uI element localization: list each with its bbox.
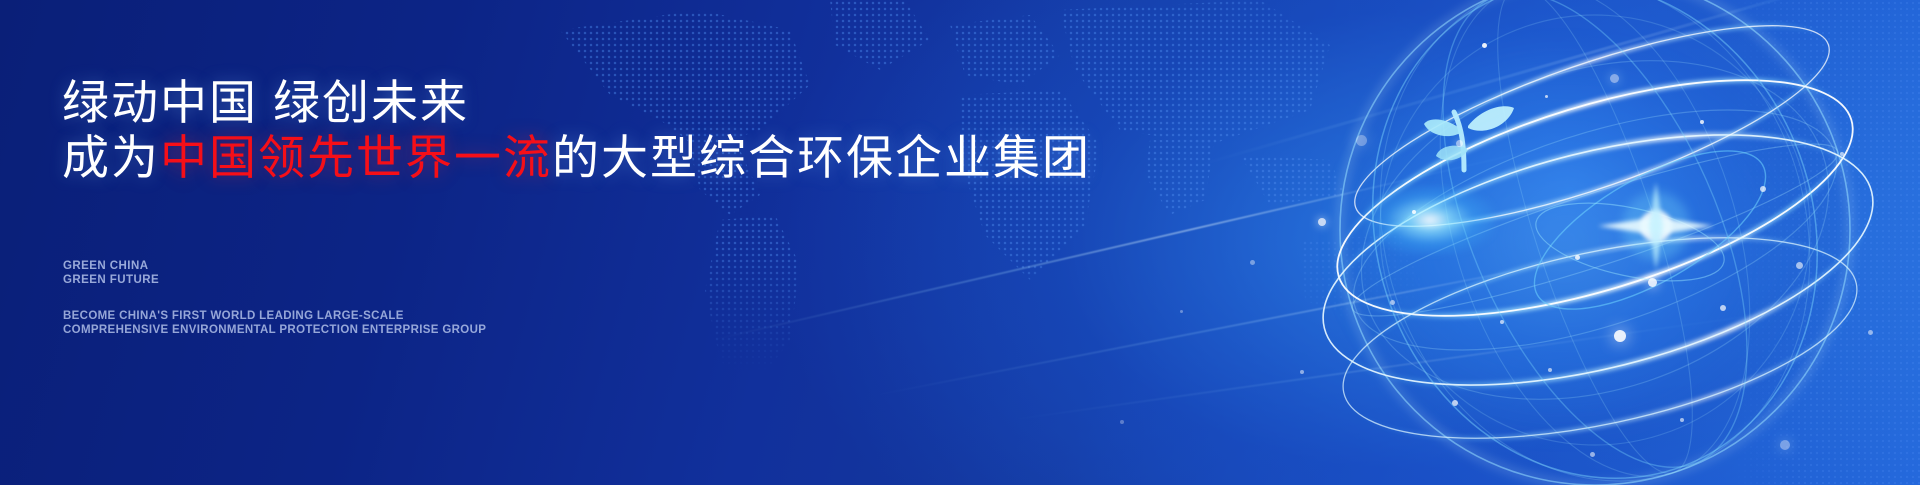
slogan-english-line-2: GREEN FUTURE [63,273,159,287]
slogan-english-line-1: GREEN CHINA [63,259,159,273]
headline-line-1: 绿动中国 绿创未来 [62,79,469,126]
headline-suffix: 的大型综合环保企业集团 [552,131,1091,184]
headline-prefix: 成为 [62,131,160,184]
tagline-english-line-2: COMPREHENSIVE ENVIRONMENTAL PROTECTION E… [63,323,486,337]
hero-banner: 绿动中国 绿创未来 成为中国领先世界一流的大型综合环保企业集团 GREEN CH… [0,0,1920,485]
tagline-english: BECOME CHINA'S FIRST WORLD LEADING LARGE… [63,309,486,337]
headline-line-2: 成为中国领先世界一流的大型综合环保企业集团 [62,134,1091,181]
core-light-flare [1365,185,1495,255]
headline-highlight: 中国领先世界一流 [160,131,552,184]
sprout-leaf-icon [1424,106,1514,170]
tagline-english-line-1: BECOME CHINA'S FIRST WORLD LEADING LARGE… [63,309,486,323]
slogan-english: GREEN CHINA GREEN FUTURE [63,259,159,287]
copy-block: 绿动中国 绿创未来 成为中国领先世界一流的大型综合环保企业集团 GREEN CH… [62,0,1112,485]
globe-graphic [1220,0,1920,485]
dot-texture-panel [1730,0,1920,485]
globe-glow [1330,40,1800,440]
